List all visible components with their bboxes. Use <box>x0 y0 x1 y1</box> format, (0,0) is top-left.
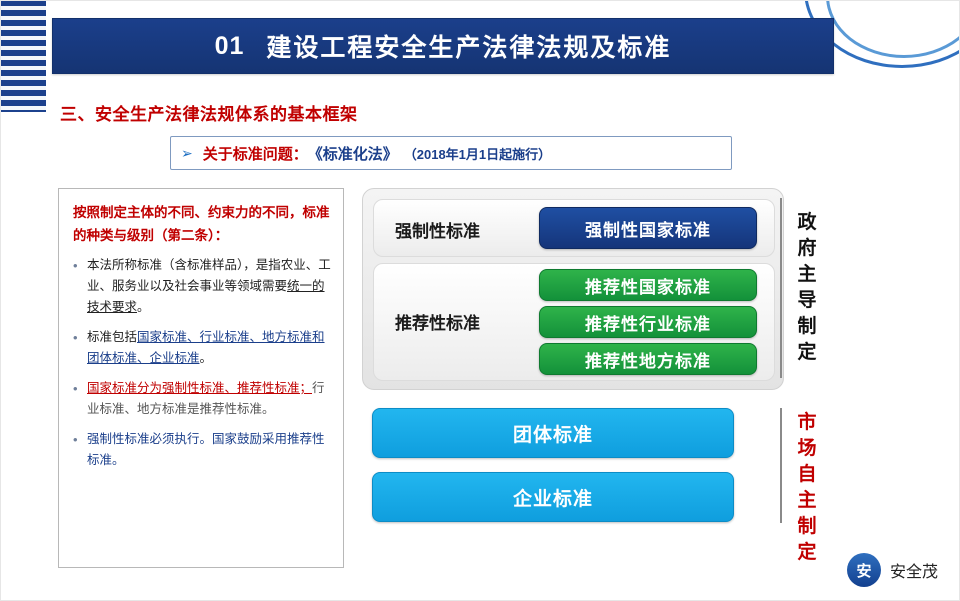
bullet-dot-icon: • <box>73 429 87 471</box>
bracket-line-government <box>780 198 782 378</box>
triangle-bullet-icon: ➢ <box>181 145 193 162</box>
text-segment: 强制性标准必须执行。国家鼓励采用推荐性标准。 <box>87 432 325 467</box>
list-item: • 国家标准分为强制性标准、推荐性标准；行业标准、地方标准是推荐性标准。 <box>73 378 331 420</box>
left-panel-title: 按照制定主体的不同、约束力的不同，标准的种类与级别（第二条）： <box>73 201 331 247</box>
chip-recommended-industry: 推荐性行业标准 <box>539 306 757 338</box>
mandatory-group-label: 强制性标准 <box>395 217 480 242</box>
bullet-dot-icon: • <box>73 378 87 420</box>
list-item-text: 国家标准分为强制性标准、推荐性标准；行业标准、地方标准是推荐性标准。 <box>87 378 331 420</box>
text-segment: 。 <box>137 300 150 314</box>
recommended-group-label: 推荐性标准 <box>395 309 480 334</box>
brand-glyph: 安 <box>856 560 871 581</box>
bullet-dot-icon: • <box>73 327 87 369</box>
slide-title-banner: 01 建设工程安全生产法律法规及标准 <box>52 18 834 74</box>
brand-name: 安全茂 <box>890 558 938 582</box>
list-item-text: 本法所称标准（含标准样品），是指农业、工业、服务业以及社会事业等领域需要统一的技… <box>87 255 331 318</box>
corner-decoration-top-left <box>0 0 46 112</box>
text-segment: 标准包括 <box>87 330 137 344</box>
footer-logo: 安 安全茂 <box>847 553 938 587</box>
slide-title-number: 01 <box>215 32 245 61</box>
list-item: • 强制性标准必须执行。国家鼓励采用推荐性标准。 <box>73 429 331 471</box>
text-segment-underlined: 国家标准分为强制性标准、推荐性标准； <box>87 381 312 395</box>
left-text-panel: 按照制定主体的不同、约束力的不同，标准的种类与级别（第二条）： • 本法所称标准… <box>58 188 344 568</box>
subtitle-part-lawname: 《标准化法》 <box>308 143 398 164</box>
list-item: • 标准包括国家标准、行业标准、地方标准和团体标准、企业标准。 <box>73 327 331 369</box>
chip-mandatory-national: 强制性国家标准 <box>539 207 757 249</box>
corner-stripes <box>0 0 46 112</box>
chip-group-standard: 团体标准 <box>372 408 734 458</box>
bullet-dot-icon: • <box>73 255 87 318</box>
chip-recommended-national: 推荐性国家标准 <box>539 269 757 301</box>
government-standards-container: 强制性标准 推荐性标准 强制性国家标准 推荐性国家标准 推荐性行业标准 推荐性地… <box>362 188 784 390</box>
chip-enterprise-standard: 企业标准 <box>372 472 734 522</box>
brand-circle-icon: 安 <box>847 553 881 587</box>
side-label-market-self: 市场自主制定 <box>794 410 820 566</box>
chip-recommended-local: 推荐性地方标准 <box>539 343 757 375</box>
list-item: • 本法所称标准（含标准样品），是指农业、工业、服务业以及社会事业等领域需要统一… <box>73 255 331 318</box>
subtitle-part-effectivedate: （2018年1月1日起施行） <box>404 144 551 163</box>
list-item-text: 标准包括国家标准、行业标准、地方标准和团体标准、企业标准。 <box>87 327 331 369</box>
standards-hierarchy-diagram: 强制性标准 推荐性标准 强制性国家标准 推荐性国家标准 推荐性行业标准 推荐性地… <box>362 188 902 568</box>
text-segment: 。 <box>200 351 213 365</box>
subtitle-part-topic: 关于标准问题： <box>203 143 308 164</box>
subtitle-bar: ➢ 关于标准问题： 《标准化法》 （2018年1月1日起施行） <box>170 136 732 170</box>
slide-title-text: 建设工程安全生产法律法规及标准 <box>266 28 671 64</box>
list-item-text: 强制性标准必须执行。国家鼓励采用推荐性标准。 <box>87 429 331 471</box>
section-heading: 三、安全生产法律法规体系的基本框架 <box>60 100 358 125</box>
bracket-line-market <box>780 408 782 523</box>
side-label-government-led: 政府主导制定 <box>794 210 820 366</box>
